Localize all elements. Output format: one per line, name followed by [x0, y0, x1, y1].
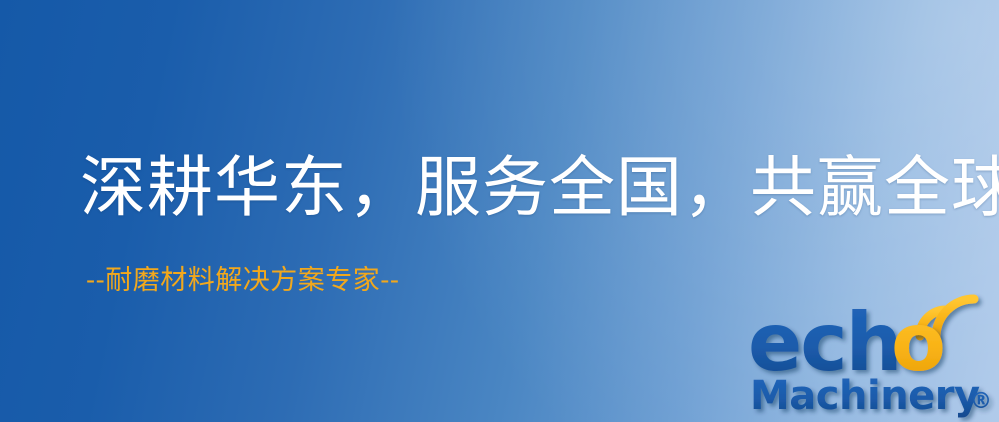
logo-registered-mark: ® [970, 389, 992, 414]
banner-subtitle: --耐磨材料解决方案专家-- [86, 264, 400, 298]
banner-headline: 深耕华东，服务全国，共赢全球 [80, 150, 999, 226]
hero-banner: 深耕华东，服务全国，共赢全球 --耐磨材料解决方案专家-- [0, 0, 999, 422]
logo-text-machinery: Machinery [750, 373, 980, 419]
echo-machinery-logo[interactable]: ech o Machinery ® [748, 296, 999, 420]
